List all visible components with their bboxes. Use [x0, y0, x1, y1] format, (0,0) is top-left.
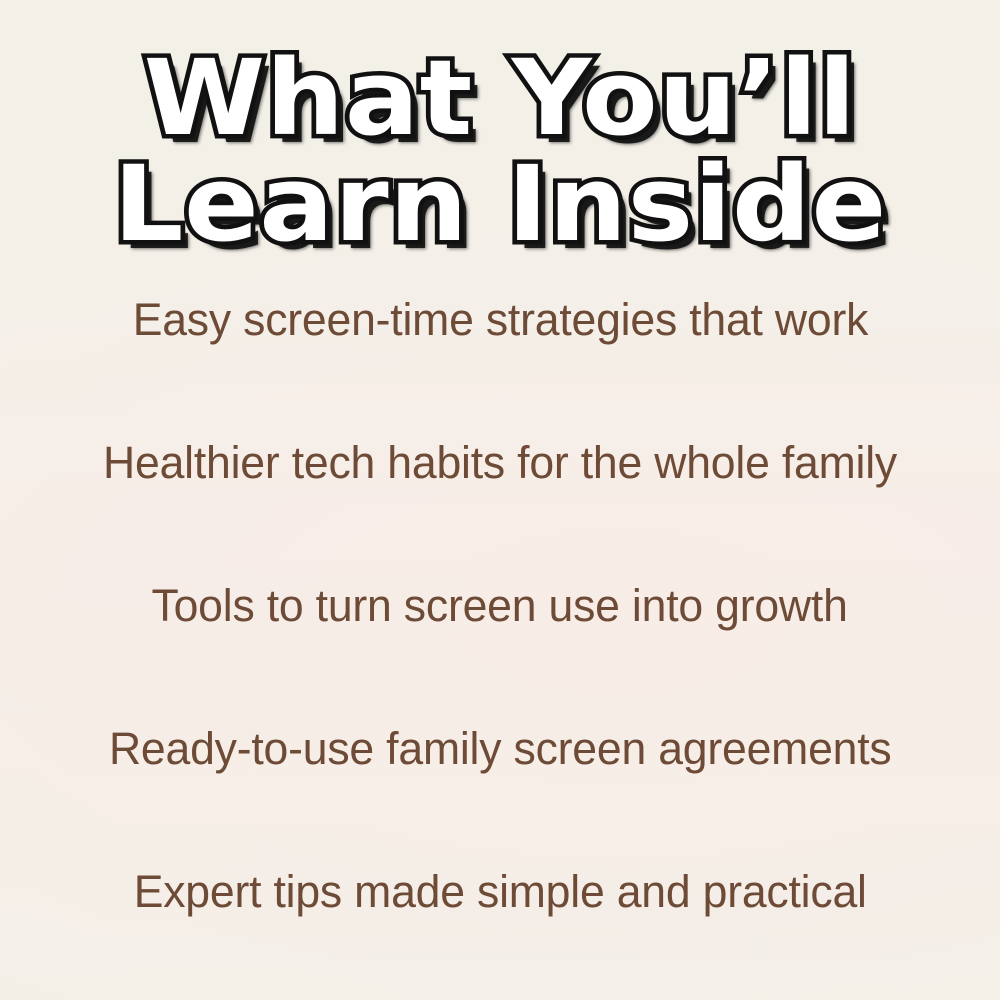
list-item: Easy screen-time strategies that work [0, 296, 1000, 439]
poster-content: What You’ll Learn Inside Easy screen-tim… [0, 0, 1000, 1000]
poster-canvas: What You’ll Learn Inside Easy screen-tim… [0, 0, 1000, 1000]
page-title-line-1: What You’ll [0, 48, 1000, 150]
benefit-text-5: Expert tips made simple and practical [133, 868, 866, 915]
page-title-line-2: Learn Inside [0, 154, 1000, 256]
list-item: Expert tips made simple and practical [0, 868, 1000, 1000]
list-item: Healthier tech habits for the whole fami… [0, 439, 1000, 582]
list-item: Tools to turn screen use into growth [0, 582, 1000, 725]
benefits-list: Easy screen-time strategies that work He… [0, 296, 1000, 1000]
list-item: Ready-to-use family screen agreements [0, 725, 1000, 868]
benefit-text-3: Tools to turn screen use into growth [152, 582, 848, 629]
benefit-text-2: Healthier tech habits for the whole fami… [103, 439, 897, 486]
benefit-text-1: Easy screen-time strategies that work [132, 296, 867, 343]
benefit-text-4: Ready-to-use family screen agreements [109, 725, 892, 772]
page-title: What You’ll Learn Inside [0, 48, 1000, 256]
